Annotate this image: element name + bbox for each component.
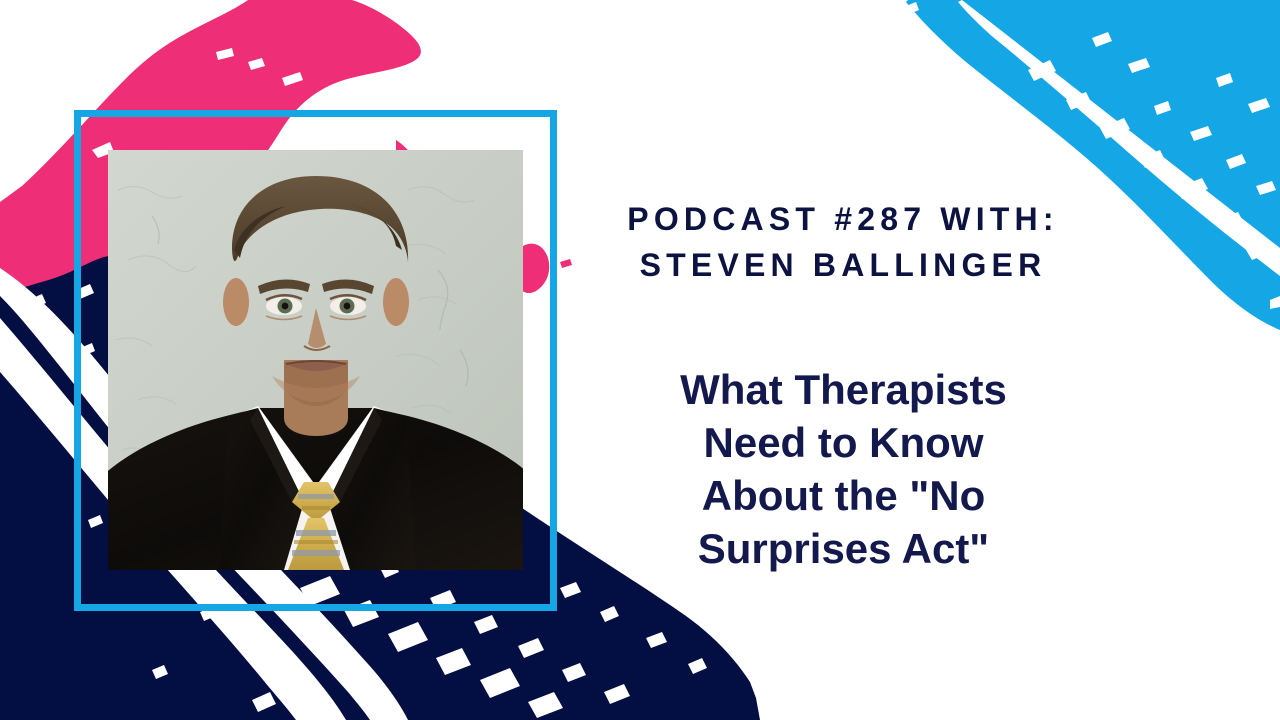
episode-eyebrow-text: PODCAST #287 WITH: STEVEN BALLINGER (573, 196, 1113, 288)
episode-title-headline: What Therapists Need to Know About the "… (600, 363, 1087, 575)
blue-photo-frame (74, 110, 557, 611)
podcast-cover-graphic: PODCAST #287 WITH: STEVEN BALLINGER What… (0, 0, 1280, 720)
